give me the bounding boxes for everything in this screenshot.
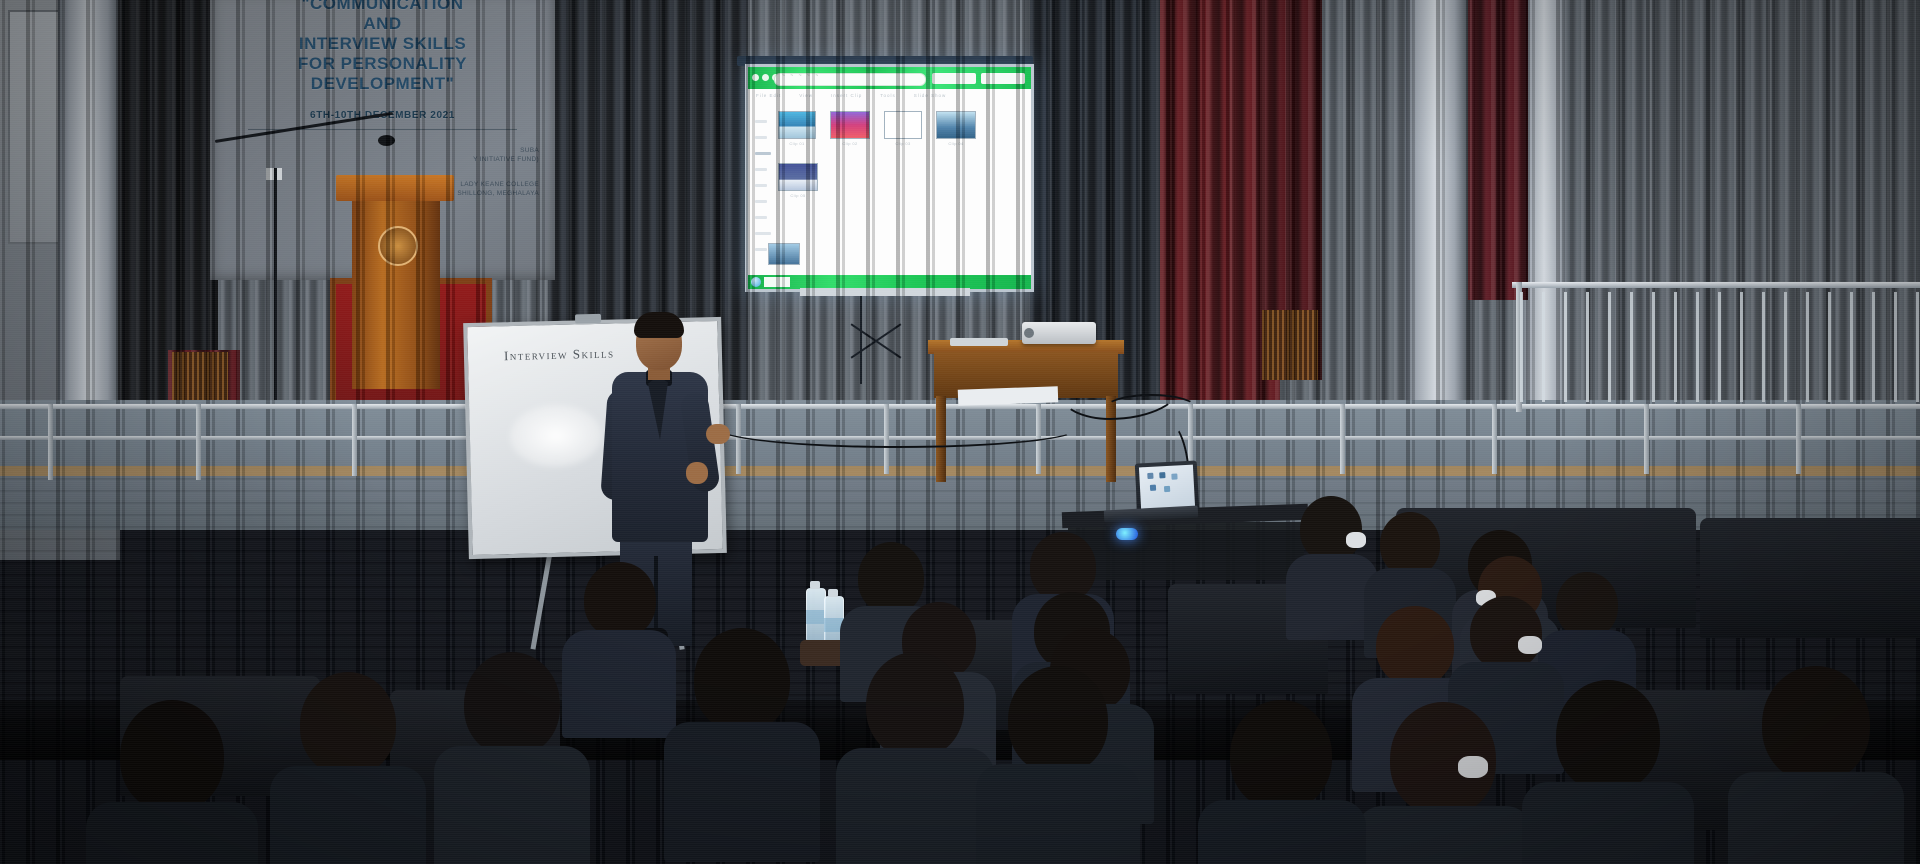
railing-post <box>1796 404 1801 474</box>
water-bottle <box>806 588 826 642</box>
railing-post <box>1644 404 1649 474</box>
railing-post <box>1492 404 1497 474</box>
projector-base-plate <box>950 338 1008 346</box>
railing-post <box>352 404 357 476</box>
whiteboard-glare <box>509 404 602 468</box>
presenter-hand-left <box>686 462 708 484</box>
railing-right-section <box>1512 282 1920 288</box>
whiteboard-text: Interview Skills <box>504 346 615 365</box>
whiteboard-clip <box>575 314 601 324</box>
laptop-screen <box>1139 465 1195 510</box>
projector-lens-icon <box>1024 328 1034 338</box>
railing-post <box>196 404 201 480</box>
cable-stage-long <box>716 408 1080 448</box>
presenter-hand-right <box>706 424 730 444</box>
auditorium-scene: "COMMUNICATION AND INTERVIEW SKILLS FOR … <box>0 0 1920 864</box>
laptop-table-body <box>1068 522 1304 580</box>
railing-post <box>1340 404 1345 474</box>
presenter-hair <box>634 312 684 338</box>
optical-mouse[interactable] <box>1116 528 1138 540</box>
railing-right-grill <box>1520 292 1920 402</box>
railing-post <box>48 404 53 480</box>
seat-row <box>1700 518 1920 638</box>
